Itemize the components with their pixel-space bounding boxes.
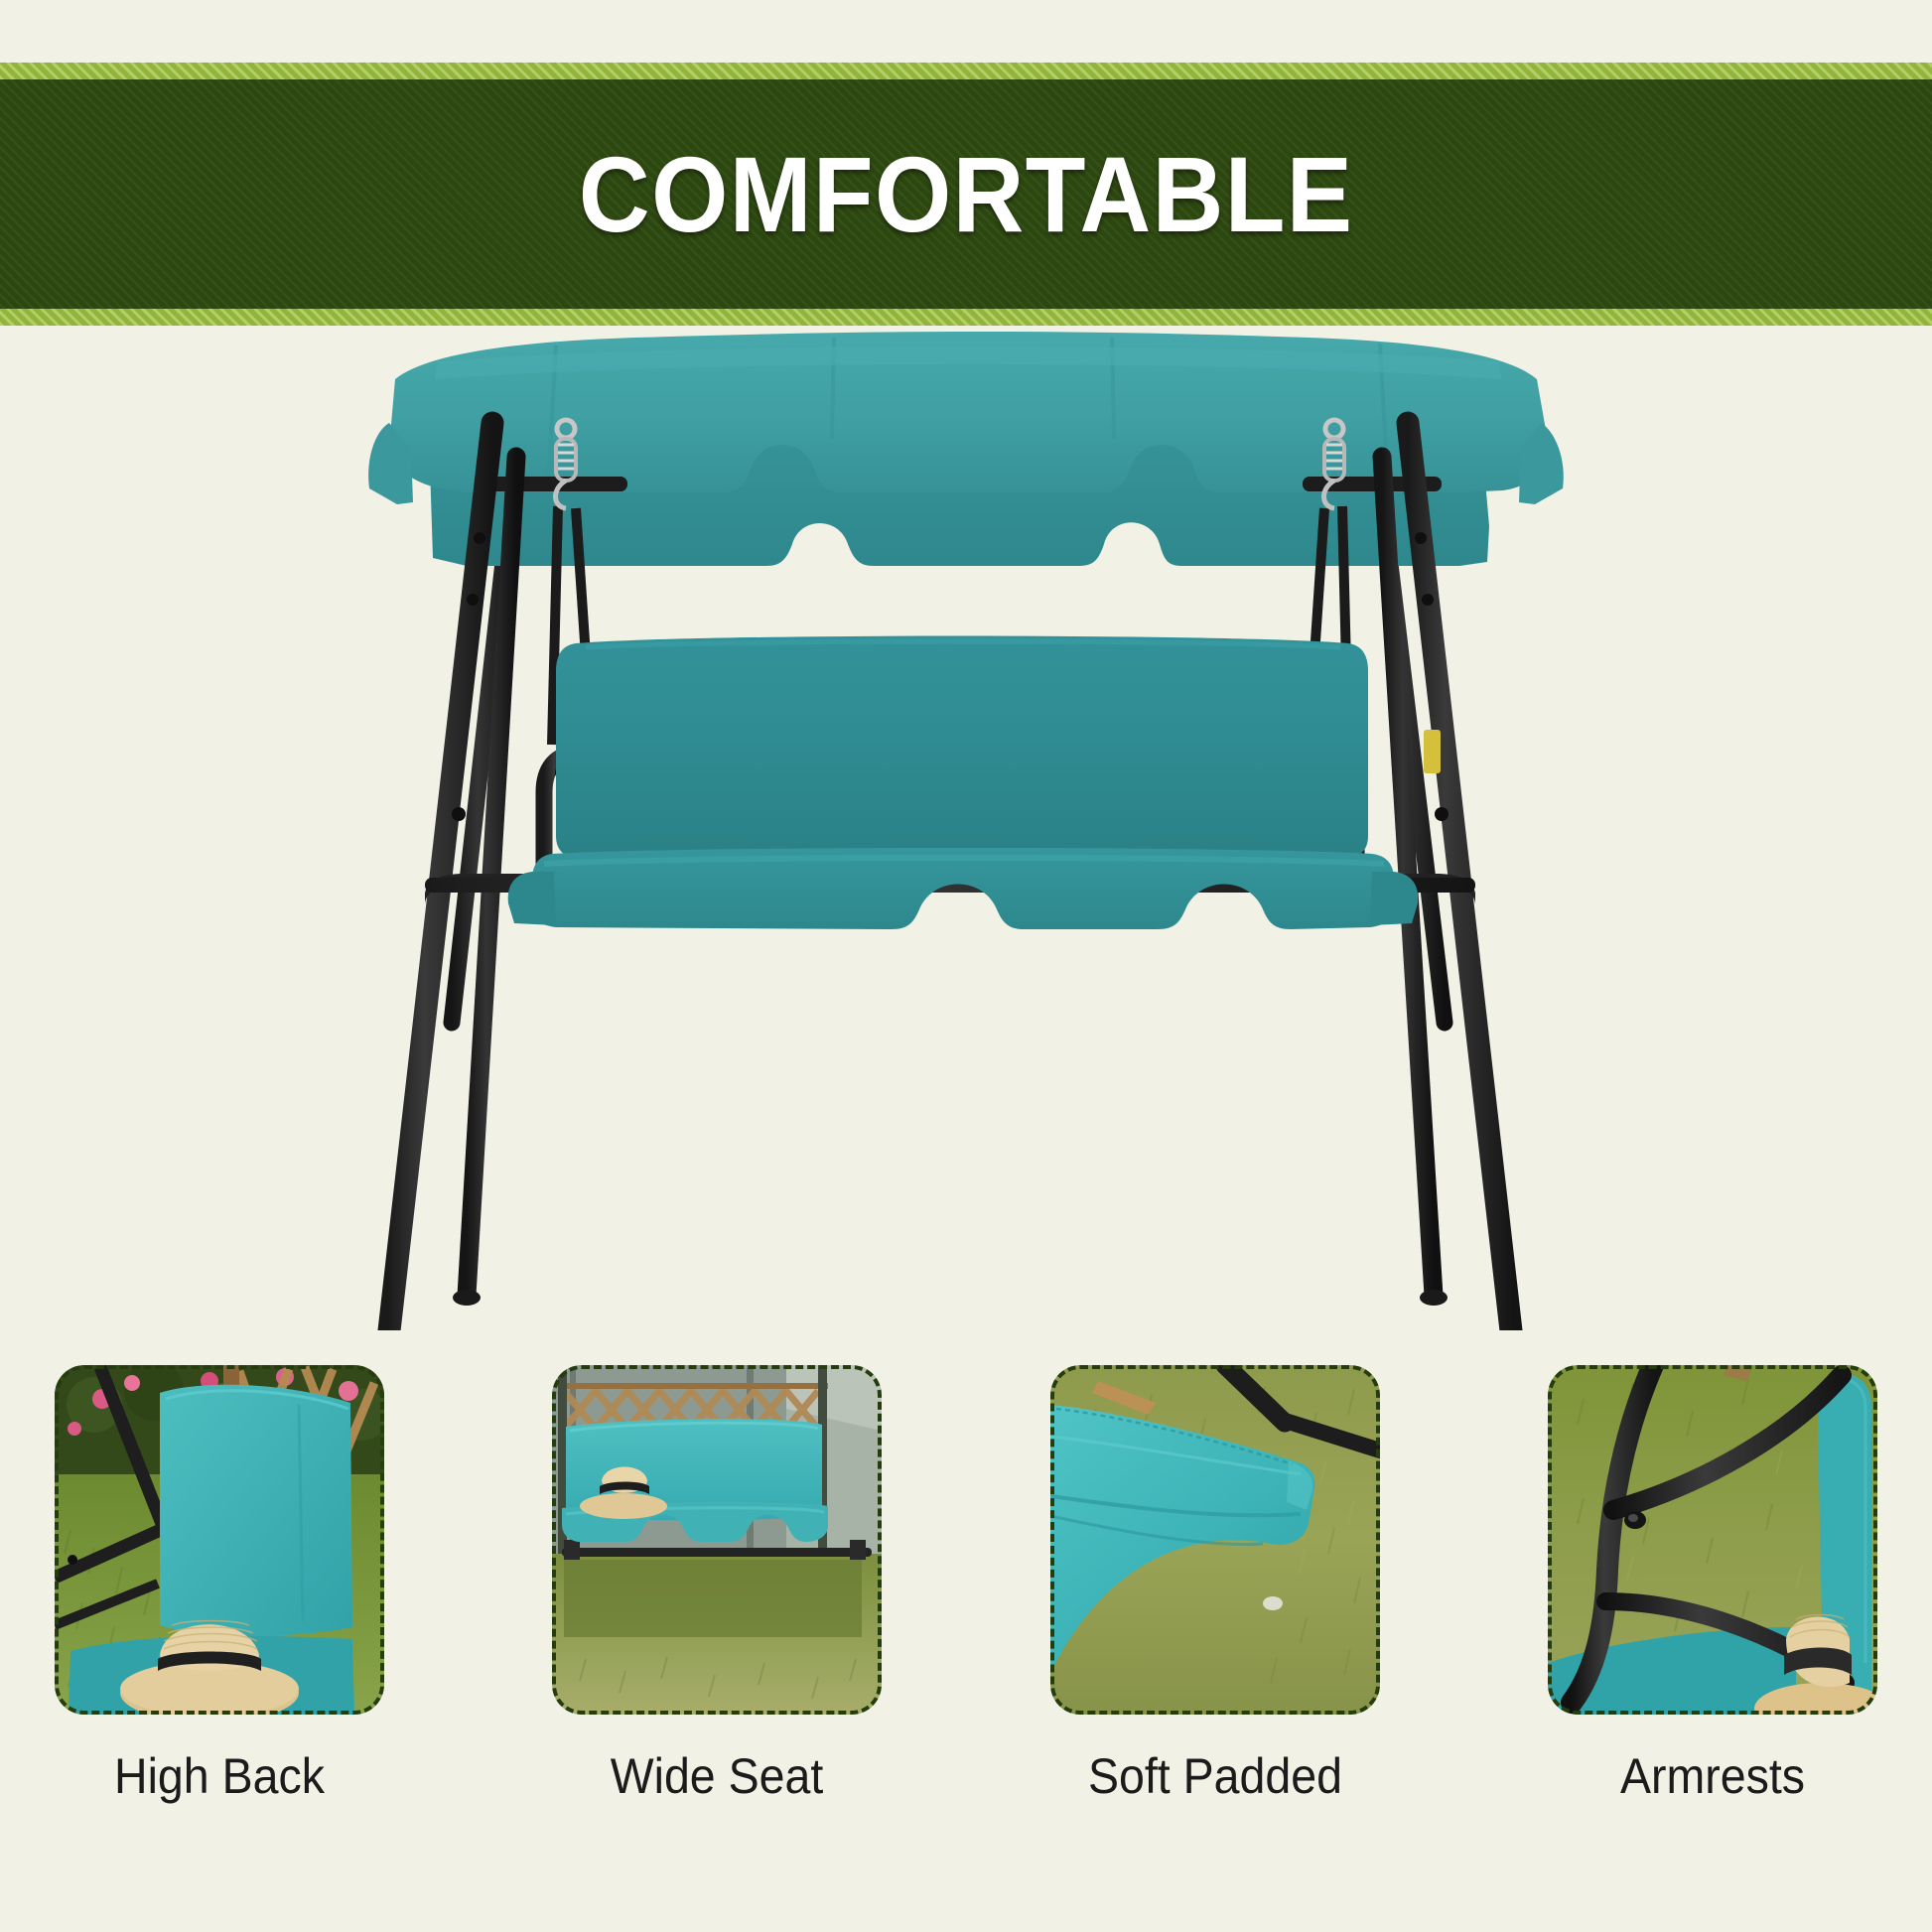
feature-thumbnail-row (55, 1365, 1877, 1715)
page-title: COMFORTABLE (579, 132, 1354, 256)
feature-caption-row: High Back Wide Seat Soft Padded Armrests (55, 1747, 1877, 1805)
feature-photo-soft-padded (1050, 1365, 1380, 1715)
hero-product-image (0, 328, 1932, 1330)
caption-soft-padded: Soft Padded (1061, 1747, 1368, 1805)
back-cushion (556, 636, 1368, 861)
caption-armrests: Armrests (1560, 1747, 1866, 1805)
feature-card-soft-padded[interactable] (1050, 1365, 1380, 1715)
caption-high-back: High Back (67, 1747, 373, 1805)
banner-bottom-stripe (0, 309, 1932, 326)
feature-card-armrests[interactable] (1548, 1365, 1877, 1715)
feature-photo-armrests (1548, 1365, 1877, 1715)
banner-top-stripe (0, 63, 1932, 79)
caption-wide-seat: Wide Seat (564, 1747, 871, 1805)
feature-card-wide-seat[interactable] (552, 1365, 882, 1715)
feature-photo-wide-seat (552, 1365, 882, 1715)
feature-card-high-back[interactable] (55, 1365, 384, 1715)
warning-label-sticker (1424, 730, 1441, 773)
feature-photo-high-back (55, 1365, 384, 1715)
header-banner: COMFORTABLE (0, 63, 1932, 326)
